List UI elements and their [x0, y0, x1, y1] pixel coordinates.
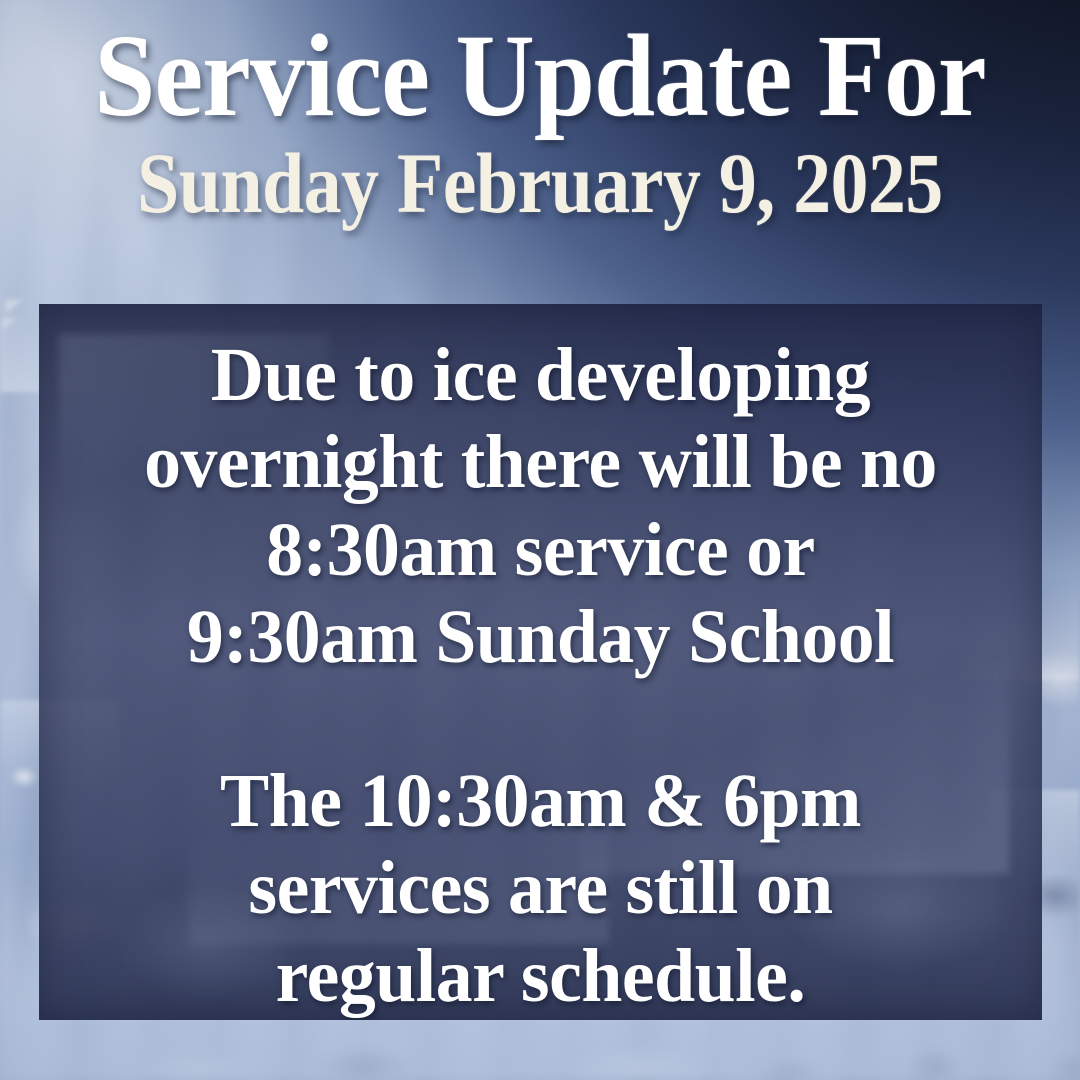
message-line: Due to ice developing	[54, 332, 1027, 419]
poster-header: Service Update For Sunday February 9, 20…	[0, 0, 1080, 226]
message-line: The 10:30am & 6pm	[54, 758, 1027, 845]
page-subtitle-date: Sunday February 9, 2025	[65, 136, 1015, 226]
message-panel: Due to ice developing overnight there wi…	[39, 304, 1042, 1020]
message-line: regular schedule.	[54, 933, 1027, 1020]
message-line: services are still on	[54, 845, 1027, 932]
page-title: Service Update For	[38, 0, 1042, 136]
message-line: 9:30am Sunday School	[54, 594, 1027, 681]
message-line: overnight there will be no	[54, 419, 1027, 506]
message-paragraph-1: Due to ice developing overnight there wi…	[54, 304, 1027, 682]
message-paragraph-2: The 10:30am & 6pm services are still on …	[54, 758, 1027, 1020]
service-update-poster: Service Update For Sunday February 9, 20…	[0, 0, 1080, 1080]
message-line: 8:30am service or	[54, 507, 1027, 594]
